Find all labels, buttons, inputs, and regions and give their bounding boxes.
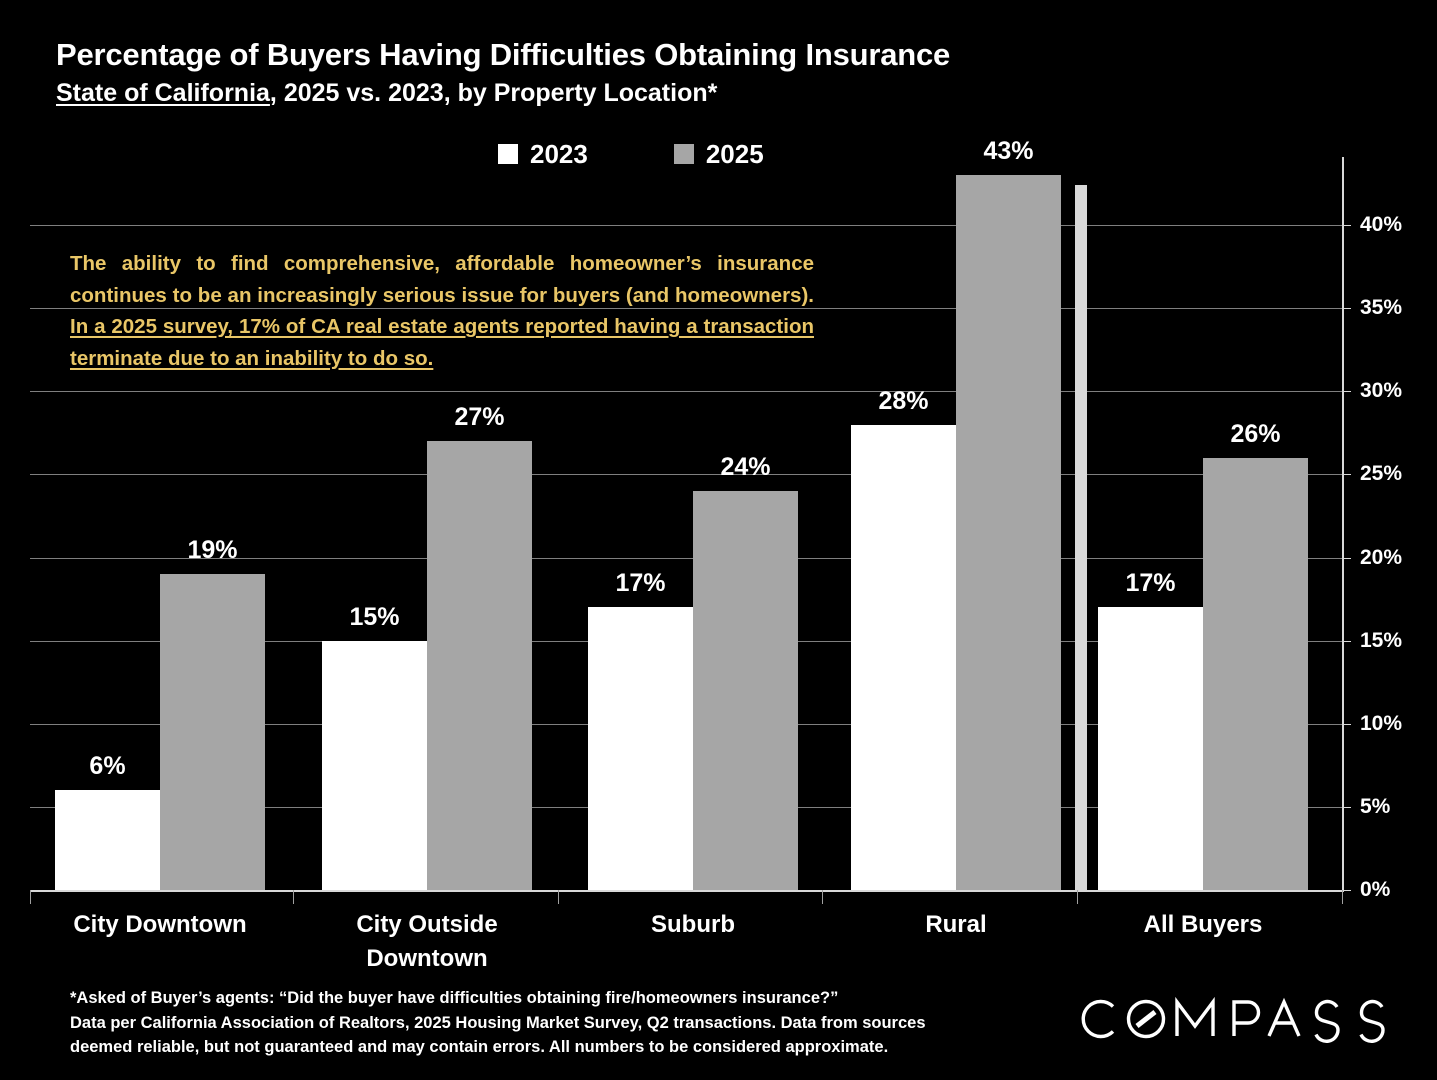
slide-canvas: Percentage of Buyers Having Difficulties… <box>0 0 1437 1080</box>
footnote-line-2: Data per California Association of Realt… <box>70 1011 1050 1036</box>
y-axis-label-5: 5% <box>1360 795 1390 819</box>
bar-label-city-downtown-2025: 19% <box>160 536 265 565</box>
x-axis-tick-4 <box>1077 890 1078 904</box>
y-axis-label-0: 0% <box>1360 878 1390 902</box>
y-axis-tick-30 <box>1342 391 1351 392</box>
y-axis-label-30: 30% <box>1360 379 1402 403</box>
x-axis-tick-2 <box>558 890 559 904</box>
bar-all-buyers-2023[interactable] <box>1098 607 1203 890</box>
x-axis-line <box>30 890 1342 892</box>
x-axis-category-label-city-downtown: City Downtown <box>35 908 285 942</box>
y-axis-line <box>1342 157 1344 892</box>
bar-suburb-2025[interactable] <box>693 491 798 890</box>
bar-label-city-downtown-2023: 6% <box>55 752 160 781</box>
bar-label-city-outside-downtown-2025: 27% <box>427 403 532 432</box>
page-title: Percentage of Buyers Having Difficulties… <box>56 36 1156 74</box>
bar-city-outside-downtown-2023[interactable] <box>322 641 427 890</box>
x-axis-tick-1 <box>293 890 294 904</box>
x-axis-tick-5 <box>1342 890 1343 904</box>
bar-label-suburb-2025: 24% <box>693 453 798 482</box>
bar-label-suburb-2023: 17% <box>588 569 693 598</box>
category-divider-bar <box>1075 185 1087 890</box>
compass-logo <box>1073 992 1393 1046</box>
gridline-30 <box>30 391 1342 392</box>
gridline-25 <box>30 474 1342 475</box>
subtitle-rest-part: , 2025 vs. 2023, by Property Location* <box>270 79 717 107</box>
bar-label-all-buyers-2023: 17% <box>1098 569 1203 598</box>
y-axis-label-15: 15% <box>1360 629 1402 653</box>
y-axis-label-40: 40% <box>1360 213 1402 237</box>
y-axis-tick-20 <box>1342 558 1351 559</box>
footnote-line-1: *Asked of Buyer’s agents: “Did the buyer… <box>70 986 1050 1011</box>
gridline-40 <box>30 225 1342 226</box>
y-axis-tick-25 <box>1342 474 1351 475</box>
annotation-plain: The ability to find comprehensive, affor… <box>70 252 814 307</box>
annotation-underlined: In a 2025 survey, 17% of CA real estate … <box>70 315 814 370</box>
bar-label-rural-2023: 28% <box>851 387 956 416</box>
annotation-text: The ability to find comprehensive, affor… <box>70 248 814 374</box>
y-axis-tick-5 <box>1342 807 1351 808</box>
y-axis-tick-10 <box>1342 724 1351 725</box>
y-axis-label-35: 35% <box>1360 296 1402 320</box>
x-axis-category-label-all-buyers: All Buyers <box>1078 908 1328 942</box>
footnote-line-3: deemed reliable, but not guaranteed and … <box>70 1035 1050 1060</box>
y-axis-label-25: 25% <box>1360 462 1402 486</box>
x-axis-category-label-city-outside-downtown: City Outside Downtown <box>302 908 552 976</box>
x-axis-category-label-rural: Rural <box>831 908 1081 942</box>
bar-city-outside-downtown-2025[interactable] <box>427 441 532 890</box>
bar-label-rural-2025: 43% <box>956 137 1061 166</box>
bar-rural-2023[interactable] <box>851 425 956 891</box>
subtitle-underlined-part: State of California <box>56 79 270 107</box>
bar-all-buyers-2025[interactable] <box>1203 458 1308 890</box>
bar-rural-2025[interactable] <box>956 175 1061 890</box>
bar-label-city-outside-downtown-2023: 15% <box>322 603 427 632</box>
y-axis-tick-35 <box>1342 308 1351 309</box>
bar-city-downtown-2023[interactable] <box>55 790 160 890</box>
y-axis-tick-40 <box>1342 225 1351 226</box>
y-axis-tick-0 <box>1342 890 1351 891</box>
page-subtitle: State of California, 2025 vs. 2023, by P… <box>56 77 1156 109</box>
footnote: *Asked of Buyer’s agents: “Did the buyer… <box>70 986 1050 1060</box>
bar-suburb-2023[interactable] <box>588 607 693 890</box>
bar-city-downtown-2025[interactable] <box>160 574 265 890</box>
title-block: Percentage of Buyers Having Difficulties… <box>56 36 1156 109</box>
y-axis-label-10: 10% <box>1360 712 1402 736</box>
x-axis-tick-0 <box>30 890 31 904</box>
x-axis-category-label-suburb: Suburb <box>568 908 818 942</box>
y-axis-label-20: 20% <box>1360 546 1402 570</box>
x-axis-tick-3 <box>822 890 823 904</box>
y-axis-tick-15 <box>1342 641 1351 642</box>
bar-label-all-buyers-2025: 26% <box>1203 420 1308 449</box>
